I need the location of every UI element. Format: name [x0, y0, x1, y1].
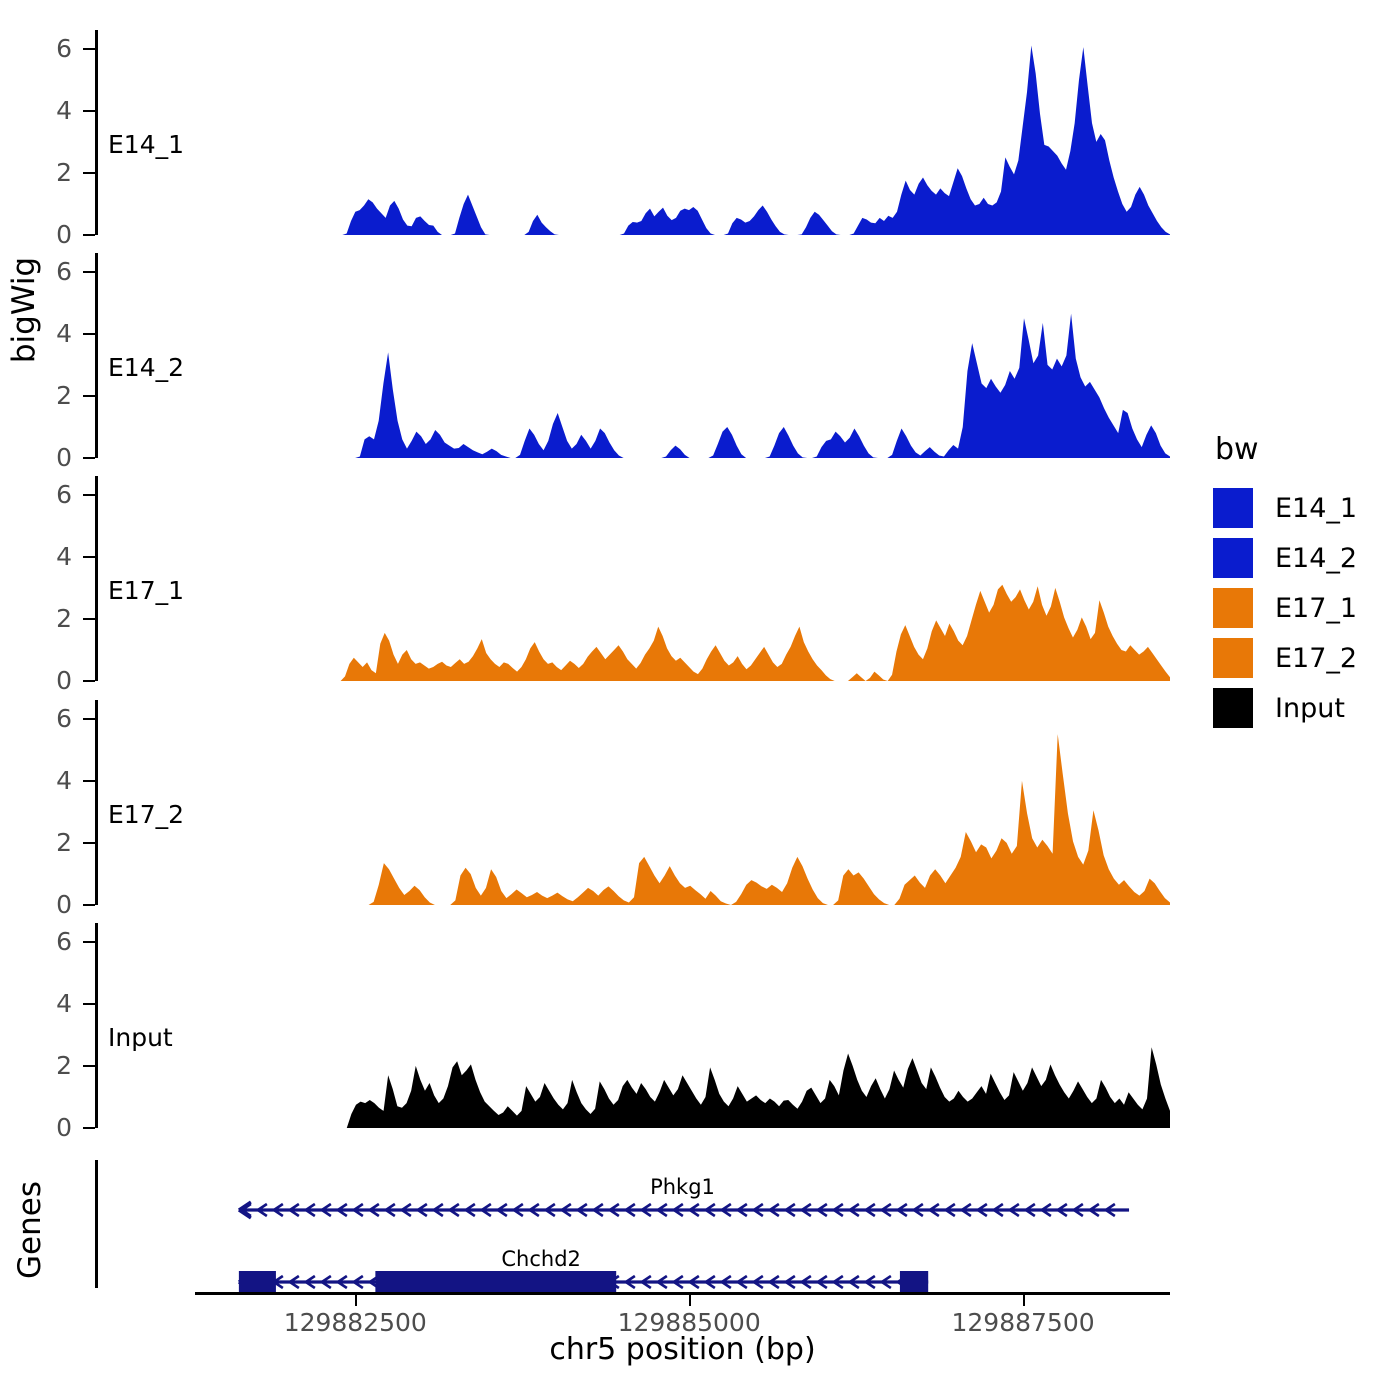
y-tick-label: 0 [0, 445, 72, 470]
y-tick-label: 6 [0, 706, 72, 731]
y-tick-label: 6 [0, 482, 72, 507]
y-tick-label: 0 [0, 222, 72, 247]
y-tick-label: 4 [0, 544, 72, 569]
genes-track: Phkg1Chchd2 [195, 1155, 1170, 1295]
coverage-panel-e17_1: 0246E17_1 [0, 476, 1180, 681]
legend-item-e17_2[interactable]: E17_2 [1213, 635, 1357, 681]
signal-area [195, 314, 1170, 458]
y-tick-label: 6 [0, 929, 72, 954]
y-tick-mark [83, 333, 95, 335]
panel-y-axis-line [95, 30, 98, 235]
legend-item-label: E17_1 [1275, 593, 1357, 624]
genes-axis-label: Genes [12, 1145, 48, 1315]
x-tick-mark [355, 1295, 357, 1306]
y-tick-label: 2 [0, 160, 72, 185]
y-tick-mark [83, 780, 95, 782]
signal-track-e17_2 [195, 700, 1170, 905]
coverage-panel-e17_2: 0246E17_2 [0, 700, 1180, 905]
panel-y-axis-line [95, 253, 98, 458]
y-tick-mark [83, 556, 95, 558]
y-tick-mark [83, 1065, 95, 1067]
y-tick-mark [83, 618, 95, 620]
y-tick-label: 4 [0, 991, 72, 1016]
y-tick-mark [83, 1003, 95, 1005]
signal-area [195, 734, 1170, 905]
y-tick-label: 2 [0, 383, 72, 408]
legend-color-swatch [1213, 488, 1253, 528]
y-tick-label: 6 [0, 259, 72, 284]
y-tick-label: 2 [0, 830, 72, 855]
panel-y-axis-line [95, 700, 98, 905]
y-tick-mark [83, 110, 95, 112]
x-tick-mark [689, 1295, 691, 1306]
y-tick-mark [83, 941, 95, 943]
signal-track-e14_1 [195, 30, 1170, 235]
panel-strip-label: E14_1 [108, 130, 184, 159]
panel-y-axis-line [95, 923, 98, 1128]
legend-item-label: E14_1 [1275, 493, 1357, 524]
legend-item-label: E14_2 [1275, 543, 1357, 574]
y-tick-mark [83, 904, 95, 906]
y-tick-label: 4 [0, 98, 72, 123]
y-tick-label: 4 [0, 768, 72, 793]
signal-track-e17_1 [195, 476, 1170, 681]
legend-item-label: E17_2 [1275, 643, 1357, 674]
signal-track-input [195, 923, 1170, 1128]
gene-label: Phkg1 [650, 1175, 715, 1199]
genes-panel-axis-line [95, 1160, 98, 1288]
signal-area [195, 46, 1170, 235]
x-axis-label: chr5 position (bp) [195, 1332, 1170, 1367]
y-tick-mark [83, 172, 95, 174]
y-tick-mark [83, 457, 95, 459]
signal-area [195, 1047, 1170, 1128]
y-tick-label: 0 [0, 892, 72, 917]
x-tick-mark [1023, 1295, 1025, 1306]
y-tick-label: 2 [0, 606, 72, 631]
legend-item-e14_1[interactable]: E14_1 [1213, 485, 1357, 531]
legend-item-input[interactable]: Input [1213, 685, 1357, 731]
panel-strip-label: E14_2 [108, 353, 184, 382]
y-tick-mark [83, 842, 95, 844]
y-tick-label: 2 [0, 1053, 72, 1078]
gene-chchd2: Chchd2 [239, 1247, 928, 1293]
legend-item-e14_2[interactable]: E14_2 [1213, 535, 1357, 581]
y-tick-mark [83, 1127, 95, 1129]
coverage-panel-e14_1: 0246E14_1 [0, 30, 1180, 235]
panel-strip-label: Input [108, 1023, 173, 1052]
legend-color-swatch [1213, 588, 1253, 628]
panel-strip-label: E17_2 [108, 800, 184, 829]
y-tick-mark [83, 48, 95, 50]
panel-y-axis-line [95, 476, 98, 681]
y-tick-mark [83, 271, 95, 273]
y-tick-label: 0 [0, 1115, 72, 1140]
coverage-panel-input: 0246Input [0, 923, 1180, 1128]
y-tick-mark [83, 395, 95, 397]
gene-phkg1: Phkg1 [239, 1175, 1129, 1218]
y-tick-mark [83, 718, 95, 720]
y-tick-label: 4 [0, 321, 72, 346]
y-tick-mark [83, 494, 95, 496]
signal-area [195, 585, 1170, 681]
coverage-panel-e14_2: 0246E14_2 [0, 253, 1180, 458]
legend-color-swatch [1213, 538, 1253, 578]
legend-item-e17_1[interactable]: E17_1 [1213, 585, 1357, 631]
legend-item-label: Input [1275, 693, 1345, 724]
legend: bw E14_1E14_2E17_1E17_2Input [1213, 432, 1357, 735]
signal-track-e14_2 [195, 253, 1170, 458]
legend-items: E14_1E14_2E17_1E17_2Input [1213, 485, 1357, 731]
gene-label: Chchd2 [501, 1247, 581, 1271]
y-tick-mark [83, 234, 95, 236]
y-tick-mark [83, 680, 95, 682]
y-tick-label: 6 [0, 36, 72, 61]
legend-color-swatch [1213, 688, 1253, 728]
y-tick-label: 0 [0, 668, 72, 693]
legend-title: bw [1215, 432, 1357, 467]
panel-strip-label: E17_1 [108, 576, 184, 605]
legend-color-swatch [1213, 638, 1253, 678]
